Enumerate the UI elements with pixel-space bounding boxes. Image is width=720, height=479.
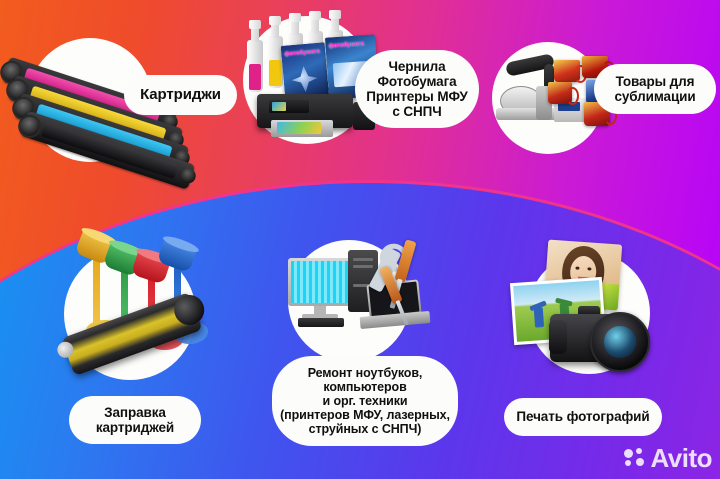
avito-dots-logo: [624, 448, 646, 468]
camera-photos-icon: [494, 240, 674, 390]
tile-ink-printers-label[interactable]: Чернила Фотобумага Принтеры МФУ с СНПЧ: [355, 50, 479, 128]
promo-banner: Картриджи фотобумага фотобумага: [0, 0, 720, 479]
tile-sublimation-label[interactable]: Товары для сублимации: [594, 64, 716, 114]
avito-watermark-text: Avito: [650, 445, 712, 471]
paint-buckets-drum-icon: [56, 224, 232, 384]
tile-refill-label[interactable]: Заправка картриджей: [69, 396, 201, 444]
tile-cartridges-label[interactable]: Картриджи: [124, 75, 237, 115]
avito-watermark: Avito: [624, 445, 712, 471]
tile-repair-label[interactable]: Ремонт ноутбуков, компьютеров и орг. тех…: [272, 356, 458, 446]
computer-tools-icon: [282, 236, 448, 366]
tile-photo-label[interactable]: Печать фотографий: [504, 398, 662, 436]
